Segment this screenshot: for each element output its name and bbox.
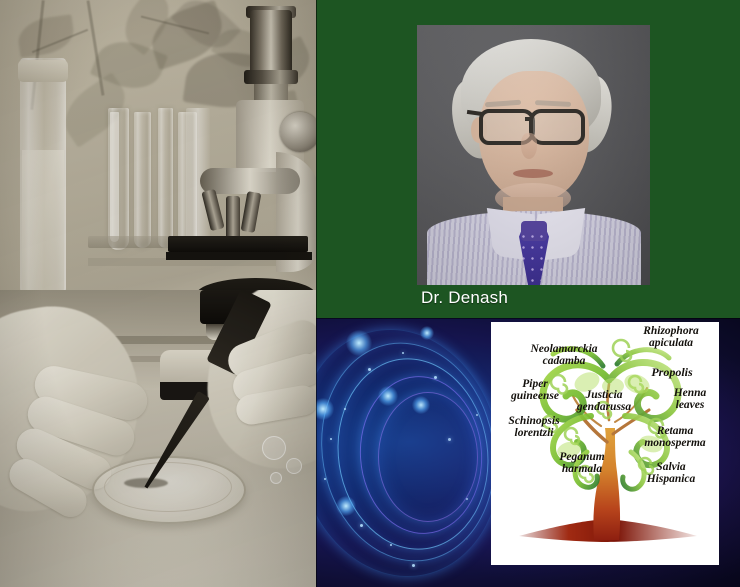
portrait-panel: Dr. Denash [316,0,740,318]
plant-label-propolis: Propolis [633,366,711,378]
panel-divider-horizontal [316,318,740,319]
plant-label-rhizophora: Rhizophora apiculata [625,326,717,350]
test-tube-stopper [18,60,68,82]
test-tube-liquid [22,150,64,306]
collage-stage: Dr. Denash [0,0,740,587]
panel-divider-vertical [316,0,317,587]
portrait-caption: Dr. Denash [421,288,508,308]
plant-label-justicia: Justicia gendarussa [559,390,649,414]
portrait-photo [417,25,650,285]
microscope-eyepiece [250,10,292,74]
plant-label-retama: Retama monosperma [629,426,719,450]
petri-dish-scene [0,290,316,587]
laboratory-photo-panel [0,0,316,587]
plant-label-salvia: Salvia Hispanica [631,462,711,486]
microscope-focus-knob [280,112,316,152]
plant-tree-card: Rhizophora apiculata Neolamarckia cadamb… [491,322,719,565]
plant-label-schinopsis: Schinopsis lorentzii [491,416,579,440]
plant-label-peganum: Peganum harmala [541,452,623,476]
plant-label-neolamarckia: Neolamarckia cadamba [507,344,621,368]
eyeglasses-right-lens [529,109,585,145]
plant-label-henna-leaves: Henna leaves [661,388,719,412]
microscope-stage [168,236,308,252]
